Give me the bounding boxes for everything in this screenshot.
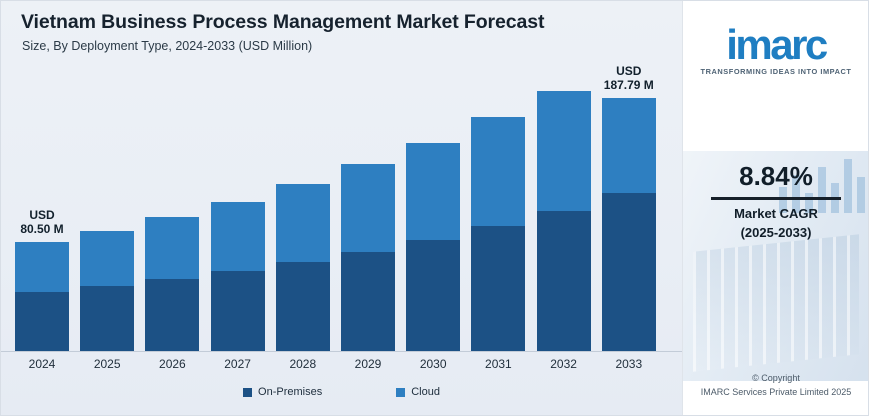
bar-segment-on-premises: [145, 279, 199, 351]
chart-page: Vietnam Business Process Management Mark…: [0, 0, 869, 416]
logo-tagline: TRANSFORMING IDEAS INTO IMPACT: [683, 67, 868, 76]
bar-segment-cloud: [80, 231, 134, 286]
cagr-value: 8.84%: [683, 161, 868, 192]
bar-group: [537, 91, 591, 351]
bar-segment-on-premises: [80, 286, 134, 351]
x-axis-tick-2033: 2033: [594, 357, 664, 371]
bar-segment-on-premises: [211, 271, 265, 351]
x-axis-tick-2032: 2032: [529, 357, 599, 371]
bar-segment-cloud: [602, 98, 656, 193]
plot-area: [1, 61, 682, 351]
bar-group: [406, 143, 460, 351]
cagr-divider: [711, 197, 841, 200]
bar-group: [211, 202, 265, 351]
x-axis-tick-2029: 2029: [333, 357, 403, 371]
bar-segment-on-premises: [276, 262, 330, 351]
bar-group: [15, 242, 69, 351]
bar-segment-on-premises: [341, 252, 395, 351]
imarc-logo: imarc: [683, 21, 868, 69]
x-axis-tick-2030: 2030: [398, 357, 468, 371]
x-axis-line: [1, 351, 682, 352]
bar-group: [80, 231, 134, 351]
legend-swatch-icon: [396, 388, 405, 397]
bar-segment-cloud: [276, 184, 330, 262]
bar-group: [341, 164, 395, 351]
x-axis-tick-2027: 2027: [203, 357, 273, 371]
side-panel: imarc TRANSFORMING IDEAS INTO IMPACT 8.8…: [682, 1, 868, 415]
x-axis-tick-2028: 2028: [268, 357, 338, 371]
chart-panel: Vietnam Business Process Management Mark…: [1, 1, 682, 415]
bar-segment-cloud: [471, 117, 525, 226]
chart-subtitle: Size, By Deployment Type, 2024-2033 (USD…: [22, 39, 312, 53]
bar-segment-cloud: [406, 143, 460, 241]
bar-group: [276, 184, 330, 351]
legend-label: On-Premises: [258, 386, 322, 398]
bar-segment-cloud: [537, 91, 591, 211]
value-annotation-2033: USD187.79 M: [584, 64, 674, 92]
bar-segment-on-premises: [471, 226, 525, 351]
page-title: Vietnam Business Process Management Mark…: [21, 11, 544, 34]
bar-segment-on-premises: [602, 193, 656, 351]
value-annotation-2024: USD80.50 M: [0, 208, 87, 236]
copyright-line-1: © Copyright: [683, 373, 868, 383]
bar-segment-cloud: [145, 217, 199, 279]
bar-segment-cloud: [15, 242, 69, 291]
x-axis-tick-2031: 2031: [463, 357, 533, 371]
copyright-line-2: IMARC Services Private Limited 2025: [683, 387, 868, 397]
bar-group: [471, 117, 525, 351]
bar-segment-cloud: [341, 164, 395, 252]
legend-swatch-icon: [243, 388, 252, 397]
x-axis-tick-2025: 2025: [72, 357, 142, 371]
bar-segment-on-premises: [15, 292, 69, 351]
x-axis-tick-2026: 2026: [137, 357, 207, 371]
bar-segment-on-premises: [406, 240, 460, 351]
legend-item[interactable]: On-Premises: [243, 386, 322, 398]
chart-legend: On-PremisesCloud: [1, 386, 682, 398]
legend-label: Cloud: [411, 386, 440, 398]
legend-item[interactable]: Cloud: [396, 386, 440, 398]
bar-segment-on-premises: [537, 211, 591, 351]
bar-segment-cloud: [211, 202, 265, 271]
cagr-period: (2025-2033): [683, 225, 868, 240]
bar-group: [145, 217, 199, 351]
x-axis-tick-2024: 2024: [7, 357, 77, 371]
cagr-label: Market CAGR: [683, 206, 868, 221]
bar-group: [602, 98, 656, 351]
